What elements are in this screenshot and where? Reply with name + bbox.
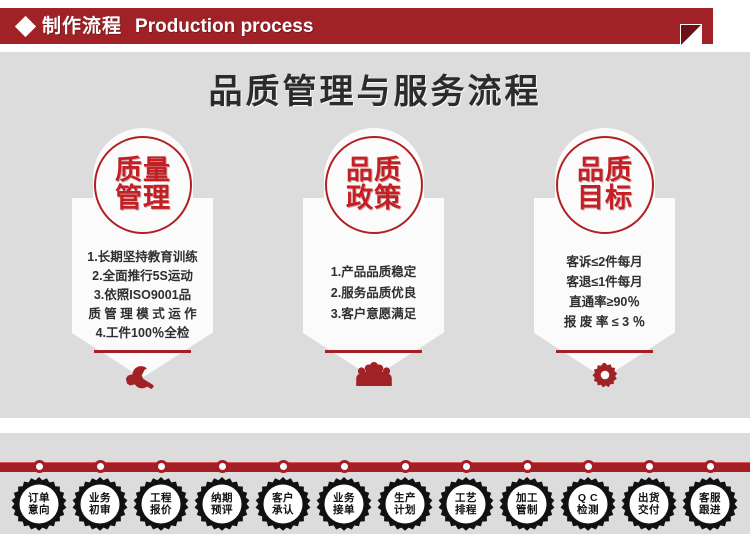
- panel-badge-line-2: 政策: [346, 185, 402, 213]
- timeline-step-label-line-1: 生产: [394, 492, 416, 504]
- list-item: 3.客户意愿满足: [303, 304, 444, 325]
- timeline-step-label-line-1: 业务: [333, 492, 355, 504]
- timeline-dot: [33, 460, 46, 473]
- panel-quality-policy: 品质 政策 1.产品品质稳定 2.服务品质优良 3.客户意愿满足: [303, 128, 444, 378]
- timeline-step-label: 出货 交付: [621, 476, 677, 532]
- timeline-step-label-line-2: 初审: [89, 504, 111, 516]
- panel-quality-target: 品质 目标 客诉≤2件每月 客退≤1件每月 直通率≥90％ 报 废 率 ≤ 3 …: [534, 128, 675, 378]
- timeline-step-12[interactable]: 客服 跟进: [682, 476, 738, 532]
- page-root: 制作流程 Production process 品质管理与服务流程 质量 管理 …: [0, 0, 750, 542]
- timeline-step-5[interactable]: 客户 承认: [255, 476, 311, 532]
- diamond-icon: [15, 15, 36, 36]
- timeline-step-3[interactable]: 工程 报价: [133, 476, 189, 532]
- timeline-step-label-line-2: 接单: [333, 504, 355, 516]
- timeline-step-2[interactable]: 业务 初审: [72, 476, 128, 532]
- timeline-step-label-line-1: 工程: [150, 492, 172, 504]
- timeline-dot: [582, 460, 595, 473]
- timeline-step-11[interactable]: 出货 交付: [621, 476, 677, 532]
- timeline-step-label-line-1: 工艺: [455, 492, 477, 504]
- timeline-step-label-line-2: 承认: [272, 504, 294, 516]
- list-item: 4.工件100％全检: [72, 324, 213, 343]
- panel-list: 客诉≤2件每月 客退≤1件每月 直通率≥90％ 报 废 率 ≤ 3 ％: [534, 252, 675, 332]
- header-fold-triangle-icon: [681, 25, 701, 45]
- timeline-step-4[interactable]: 纳期 预评: [194, 476, 250, 532]
- timeline-step-label: 订单 意向: [11, 476, 67, 532]
- list-item: 客诉≤2件每月: [534, 252, 675, 272]
- timeline-step-label-line-2: 检测: [577, 504, 599, 516]
- timeline-step-label-line-2: 计划: [394, 504, 416, 516]
- timeline-step-label: 客服 跟进: [682, 476, 738, 532]
- list-item: 2.全面推行5S运动: [72, 267, 213, 286]
- process-timeline: 订单 意向 业务 初审 工程 报价: [0, 433, 750, 534]
- timeline-rail: [0, 462, 750, 472]
- panel-badge-line-1: 质量: [115, 157, 171, 185]
- header-content: 制作流程 Production process: [18, 8, 313, 44]
- wrench-icon: [72, 364, 213, 397]
- timeline-step-7[interactable]: 生产 计划: [377, 476, 433, 532]
- timeline-step-label-line-1: 加工: [516, 492, 538, 504]
- panel-list: 1.产品品质稳定 2.服务品质优良 3.客户意愿满足: [303, 262, 444, 325]
- timeline-step-label: 客户 承认: [255, 476, 311, 532]
- page-title: 品质管理与服务流程: [0, 64, 750, 113]
- panel-badge-circle: 品质 目标: [556, 136, 654, 234]
- timeline-step-label-line-1: Q C: [578, 492, 598, 504]
- panel-divider: [94, 350, 191, 353]
- timeline-step-label: 生产 计划: [377, 476, 433, 532]
- timeline-step-label-line-1: 客户: [272, 492, 294, 504]
- timeline-step-label: Q C 检测: [560, 476, 616, 532]
- list-item: 3.依照ISO9001品: [72, 286, 213, 305]
- timeline-step-label-line-2: 预评: [211, 504, 233, 516]
- header-title-en: Production process: [135, 17, 313, 36]
- panel-quality-management: 质量 管理 1.长期坚持教育训练 2.全面推行5S运动 3.依照ISO9001品…: [72, 128, 213, 378]
- timeline-step-label-line-1: 客服: [699, 492, 721, 504]
- page-header: 制作流程 Production process: [0, 8, 713, 44]
- timeline-step-label-line-2: 报价: [150, 504, 172, 516]
- timeline-step-label-line-2: 排程: [455, 504, 477, 516]
- list-item: 2.服务品质优良: [303, 283, 444, 304]
- panel-badge-circle: 质量 管理: [94, 136, 192, 234]
- timeline-dot: [94, 460, 107, 473]
- timeline-step-label-line-2: 跟进: [699, 504, 721, 516]
- timeline-step-label: 业务 初审: [72, 476, 128, 532]
- timeline-step-label: 工艺 排程: [438, 476, 494, 532]
- timeline-step-label-line-2: 交付: [638, 504, 660, 516]
- timeline-step-label-line-2: 意向: [28, 504, 50, 516]
- panel-badge-line-2: 目标: [577, 185, 633, 213]
- timeline-step-label: 工程 报价: [133, 476, 189, 532]
- header-title-cn: 制作流程: [42, 17, 122, 36]
- timeline-step-9[interactable]: 加工 管制: [499, 476, 555, 532]
- people-group-icon: [303, 362, 444, 391]
- timeline-step-label-line-1: 业务: [89, 492, 111, 504]
- timeline-step-label-line-1: 纳期: [211, 492, 233, 504]
- timeline-dot: [521, 460, 534, 473]
- panel-badge-line-1: 品质: [577, 157, 633, 185]
- timeline-step-label: 纳期 预评: [194, 476, 250, 532]
- list-item: 质 管 理 模 式 运 作: [72, 305, 213, 324]
- panel-badge-line-2: 管理: [115, 185, 171, 213]
- list-item: 1.产品品质稳定: [303, 262, 444, 283]
- list-item: 1.长期坚持教育训练: [72, 248, 213, 267]
- timeline-step-1[interactable]: 订单 意向: [11, 476, 67, 532]
- timeline-dot: [277, 460, 290, 473]
- timeline-step-label-line-1: 订单: [28, 492, 50, 504]
- gear-icon: [534, 362, 675, 393]
- list-item: 直通率≥90％: [534, 292, 675, 312]
- timeline-step-label-line-2: 管制: [516, 504, 538, 516]
- timeline-step-label-line-1: 出货: [638, 492, 660, 504]
- timeline-step-8[interactable]: 工艺 排程: [438, 476, 494, 532]
- timeline-step-10[interactable]: Q C 检测: [560, 476, 616, 532]
- timeline-step-6[interactable]: 业务 接单: [316, 476, 372, 532]
- timeline-dot: [216, 460, 229, 473]
- timeline-dot: [460, 460, 473, 473]
- timeline-dot: [643, 460, 656, 473]
- timeline-dot: [155, 460, 168, 473]
- timeline-dot: [704, 460, 717, 473]
- panel-divider: [325, 350, 422, 353]
- list-item: 报 废 率 ≤ 3 ％: [534, 312, 675, 332]
- list-item: 客退≤1件每月: [534, 272, 675, 292]
- timeline-dot: [399, 460, 412, 473]
- main-stage: 品质管理与服务流程 质量 管理 1.长期坚持教育训练 2.全面推行5S运动 3.…: [0, 52, 750, 418]
- timeline-step-label: 加工 管制: [499, 476, 555, 532]
- panel-divider: [556, 350, 653, 353]
- timeline-step-label: 业务 接单: [316, 476, 372, 532]
- panel-list: 1.长期坚持教育训练 2.全面推行5S运动 3.依照ISO9001品 质 管 理…: [72, 248, 213, 343]
- panel-badge-circle: 品质 政策: [325, 136, 423, 234]
- timeline-dot: [338, 460, 351, 473]
- panel-badge-line-1: 品质: [346, 157, 402, 185]
